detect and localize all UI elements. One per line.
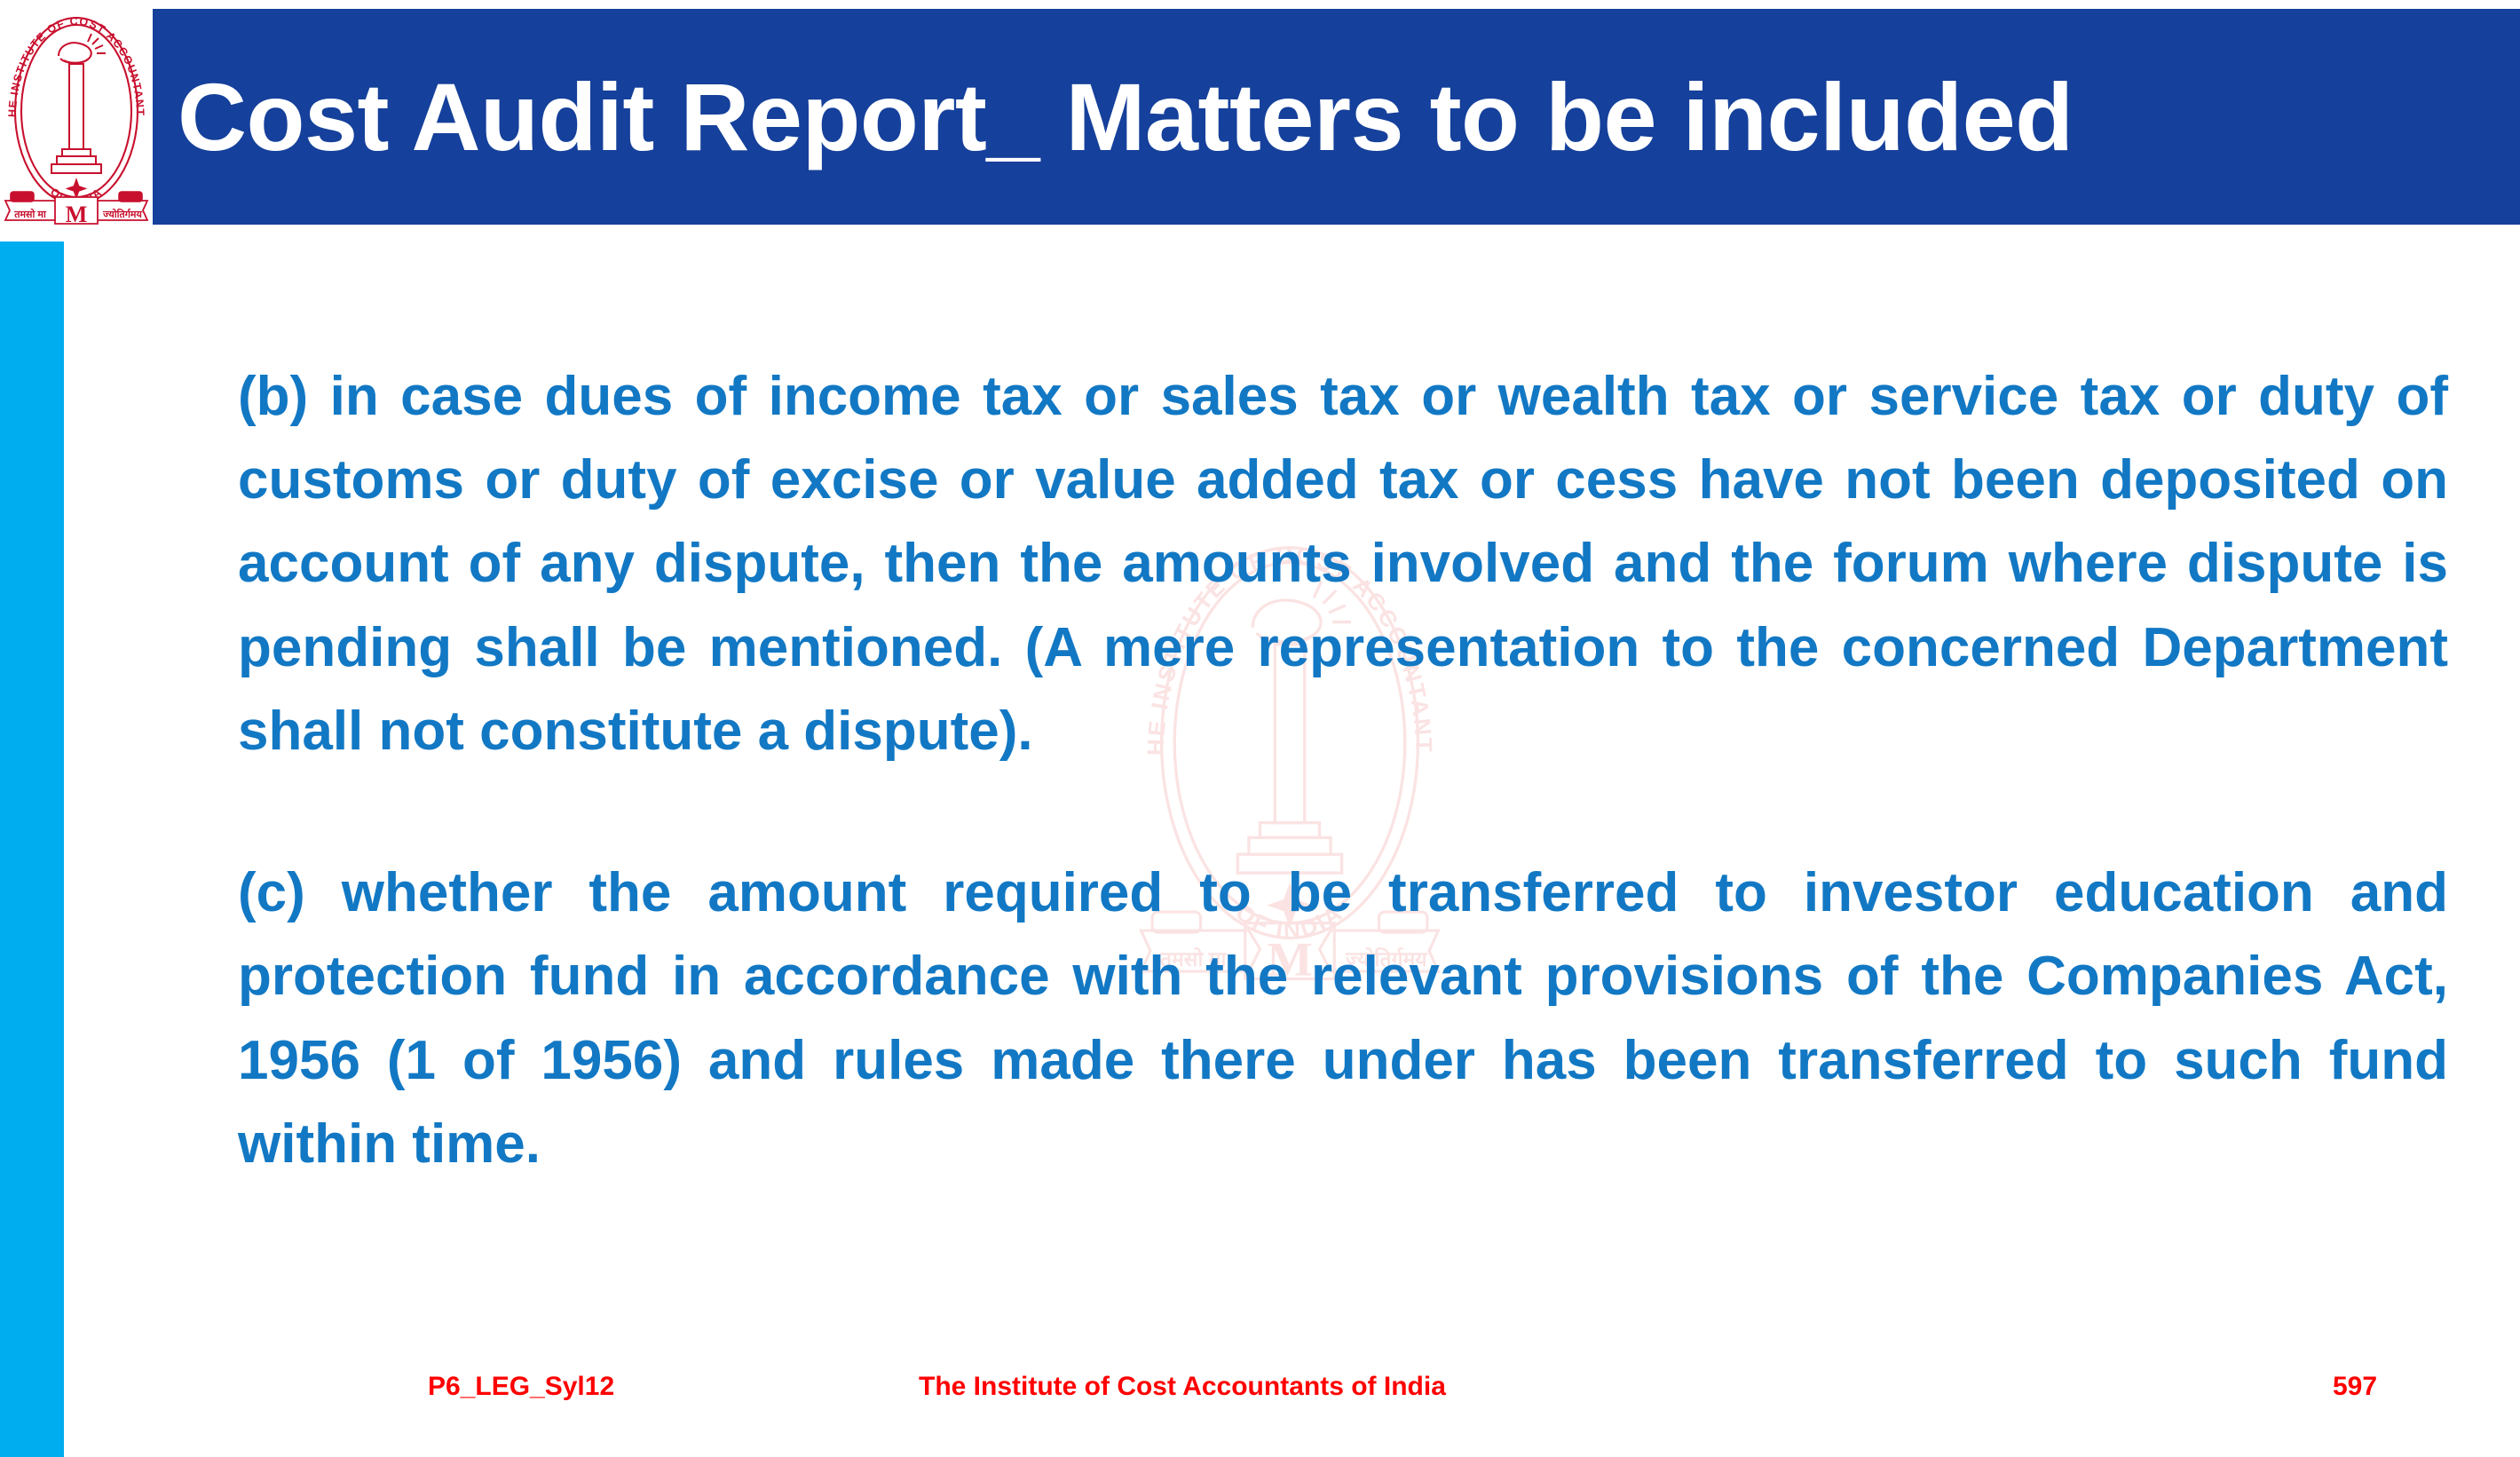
slide-body: (b) in case dues of income tax or sales … bbox=[238, 355, 2448, 1186]
svg-text:तमसो मा: तमसो मा bbox=[13, 208, 47, 220]
slide-footer: P6_LEG_Syl12 The Institute of Cost Accou… bbox=[0, 1372, 2520, 1425]
svg-text:ज्योतिर्गमय: ज्योतिर्गमय bbox=[102, 208, 142, 220]
icai-logo: THE INSTITUTE OF COST ACCOUNTANTS OF IND… bbox=[0, 0, 153, 229]
left-accent-strip bbox=[0, 242, 64, 1457]
slide-root: Cost Audit Report_ Matters to be include… bbox=[0, 0, 2520, 1457]
slide-header-band: Cost Audit Report_ Matters to be include… bbox=[153, 9, 2520, 225]
footer-paper-code: P6_LEG_Syl12 bbox=[428, 1372, 614, 1402]
footer-page-number: 597 bbox=[2333, 1372, 2377, 1402]
footer-organisation: The Institute of Cost Accountants of Ind… bbox=[919, 1372, 1446, 1402]
body-paragraph-b: (b) in case dues of income tax or sales … bbox=[238, 355, 2448, 773]
page-title: Cost Audit Report_ Matters to be include… bbox=[178, 67, 2074, 167]
svg-text:M: M bbox=[66, 202, 88, 227]
body-paragraph-c: (c) whether the amount required to be tr… bbox=[238, 851, 2448, 1186]
